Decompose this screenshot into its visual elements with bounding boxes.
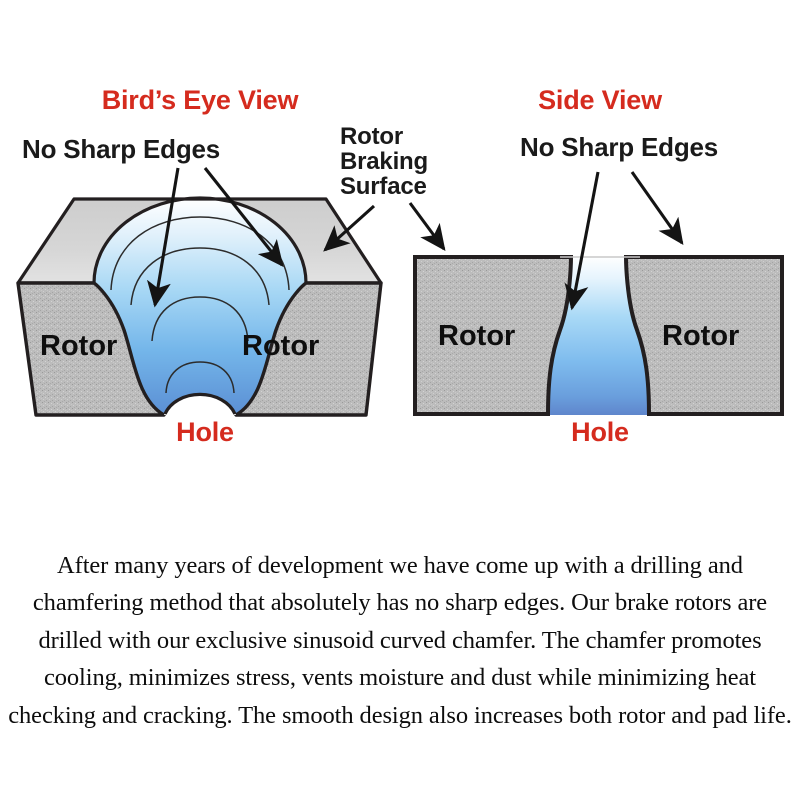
hole-label-left: Hole	[110, 418, 300, 447]
arrow-no-sharp-edges-right-b	[632, 172, 682, 243]
rotor-label-right-1: Rotor	[438, 320, 515, 353]
side-view-diagram	[410, 172, 783, 415]
description-paragraph: After many years of development we have …	[8, 547, 792, 735]
birds-eye-view-title: Bird’s Eye View	[0, 86, 400, 115]
rotor-label-right-2: Rotor	[662, 320, 739, 353]
callout-no-sharp-edges-left: No Sharp Edges	[22, 136, 322, 164]
hole-label-right: Hole	[505, 418, 695, 447]
figure-canvas: Bird’s Eye View No Sharp Edges Rotor Bra…	[0, 0, 800, 800]
rotor-label-left-2: Rotor	[242, 330, 319, 363]
diagram-area: Bird’s Eye View No Sharp Edges Rotor Bra…	[0, 0, 800, 470]
diagram-svg	[0, 0, 800, 470]
birds-eye-diagram	[18, 168, 381, 415]
arrow-braking-surface-right	[410, 203, 444, 249]
callout-rotor-braking-surface: Rotor Braking Surface	[340, 124, 480, 200]
callout-no-sharp-edges-right: No Sharp Edges	[520, 134, 800, 162]
side-view-title: Side View	[420, 86, 780, 115]
rotor-label-left-1: Rotor	[40, 330, 117, 363]
